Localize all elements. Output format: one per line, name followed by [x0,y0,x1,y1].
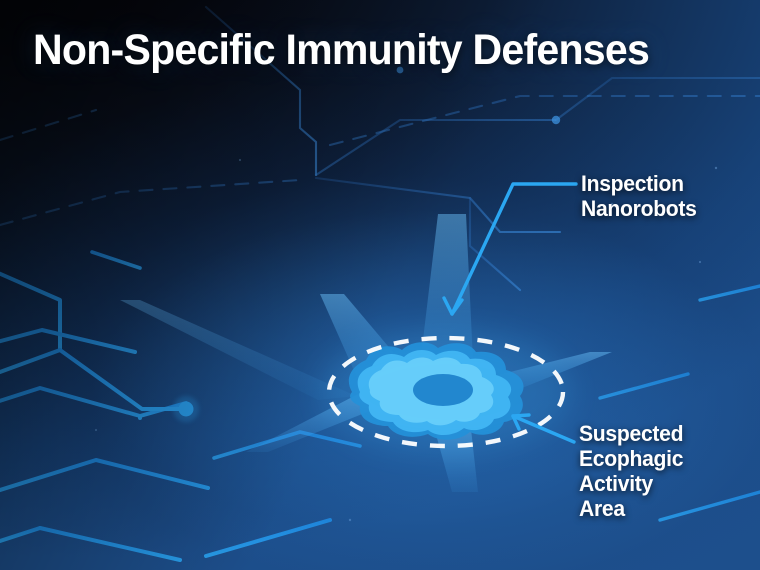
page-title: Non-Specific Immunity Defenses [33,26,649,75]
callout-inspection-nanorobots: Inspection Nanorobots [581,171,697,221]
callout-line: Ecophagic [579,446,683,471]
callout-line: Nanorobots [581,196,697,221]
illustration-canvas: Non-Specific Immunity Defenses Inspectio… [0,0,760,570]
callout-line: Suspected [579,421,683,446]
callout-line: Area [579,496,683,521]
callout-suspected-ecophagic-activity-area: Suspected Ecophagic Activity Area [579,421,683,521]
callout-line: Activity [579,471,683,496]
leader-line-suspected-area [513,415,574,442]
leader-line-inspection-nanorobots [444,184,576,314]
callout-line: Inspection [581,171,697,196]
